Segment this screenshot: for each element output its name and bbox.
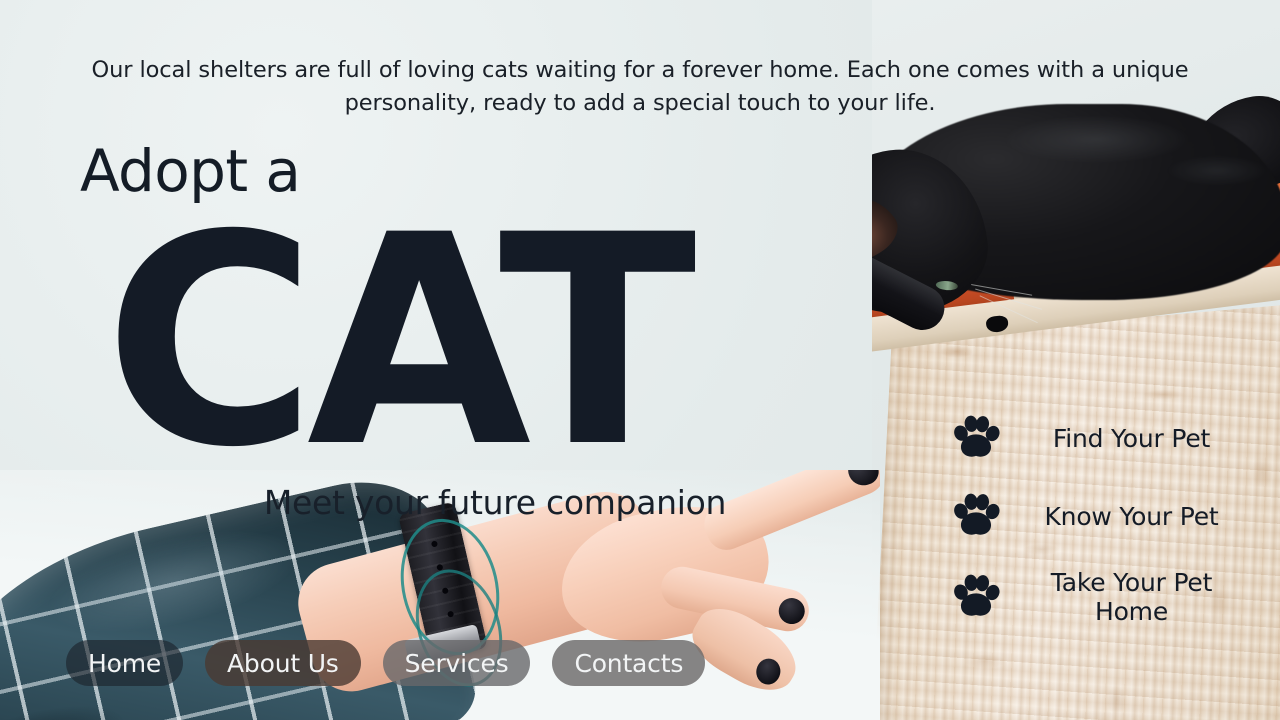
feature-item-find-your-pet[interactable]: Find Your Pet bbox=[950, 412, 1250, 464]
feature-item-take-your-pet-home[interactable]: Take Your Pet Home bbox=[950, 568, 1250, 626]
main-navigation: Home About Us Services Contacts bbox=[66, 640, 705, 686]
page-title: CAT bbox=[104, 218, 687, 467]
hero-slide: Our local shelters are full of loving ca… bbox=[0, 0, 1280, 720]
cat-nose bbox=[985, 315, 1009, 333]
feature-label: Find Your Pet bbox=[1013, 424, 1250, 453]
paw-print-icon bbox=[950, 571, 1002, 623]
nav-item-services[interactable]: Services bbox=[383, 640, 531, 686]
painted-nail bbox=[845, 470, 880, 489]
feature-label: Know Your Pet bbox=[1013, 502, 1250, 531]
nav-item-about-us[interactable]: About Us bbox=[205, 640, 361, 686]
feature-item-know-your-pet[interactable]: Know Your Pet bbox=[950, 490, 1250, 542]
paw-print-icon bbox=[950, 490, 1002, 542]
cat-ear bbox=[872, 189, 906, 271]
intro-paragraph: Our local shelters are full of loving ca… bbox=[90, 54, 1190, 121]
painted-nail bbox=[754, 656, 783, 686]
tagline: Meet your future companion bbox=[180, 485, 810, 521]
painted-nail bbox=[776, 596, 807, 627]
paw-print-icon bbox=[950, 412, 1002, 464]
black-cat bbox=[872, 100, 1280, 400]
feature-list: Find Your Pet Know Your Pet bbox=[950, 412, 1250, 626]
cat-eye bbox=[936, 280, 959, 291]
nav-item-contacts[interactable]: Contacts bbox=[552, 640, 705, 686]
nav-item-home[interactable]: Home bbox=[66, 640, 183, 686]
feature-label: Take Your Pet Home bbox=[1013, 568, 1250, 626]
